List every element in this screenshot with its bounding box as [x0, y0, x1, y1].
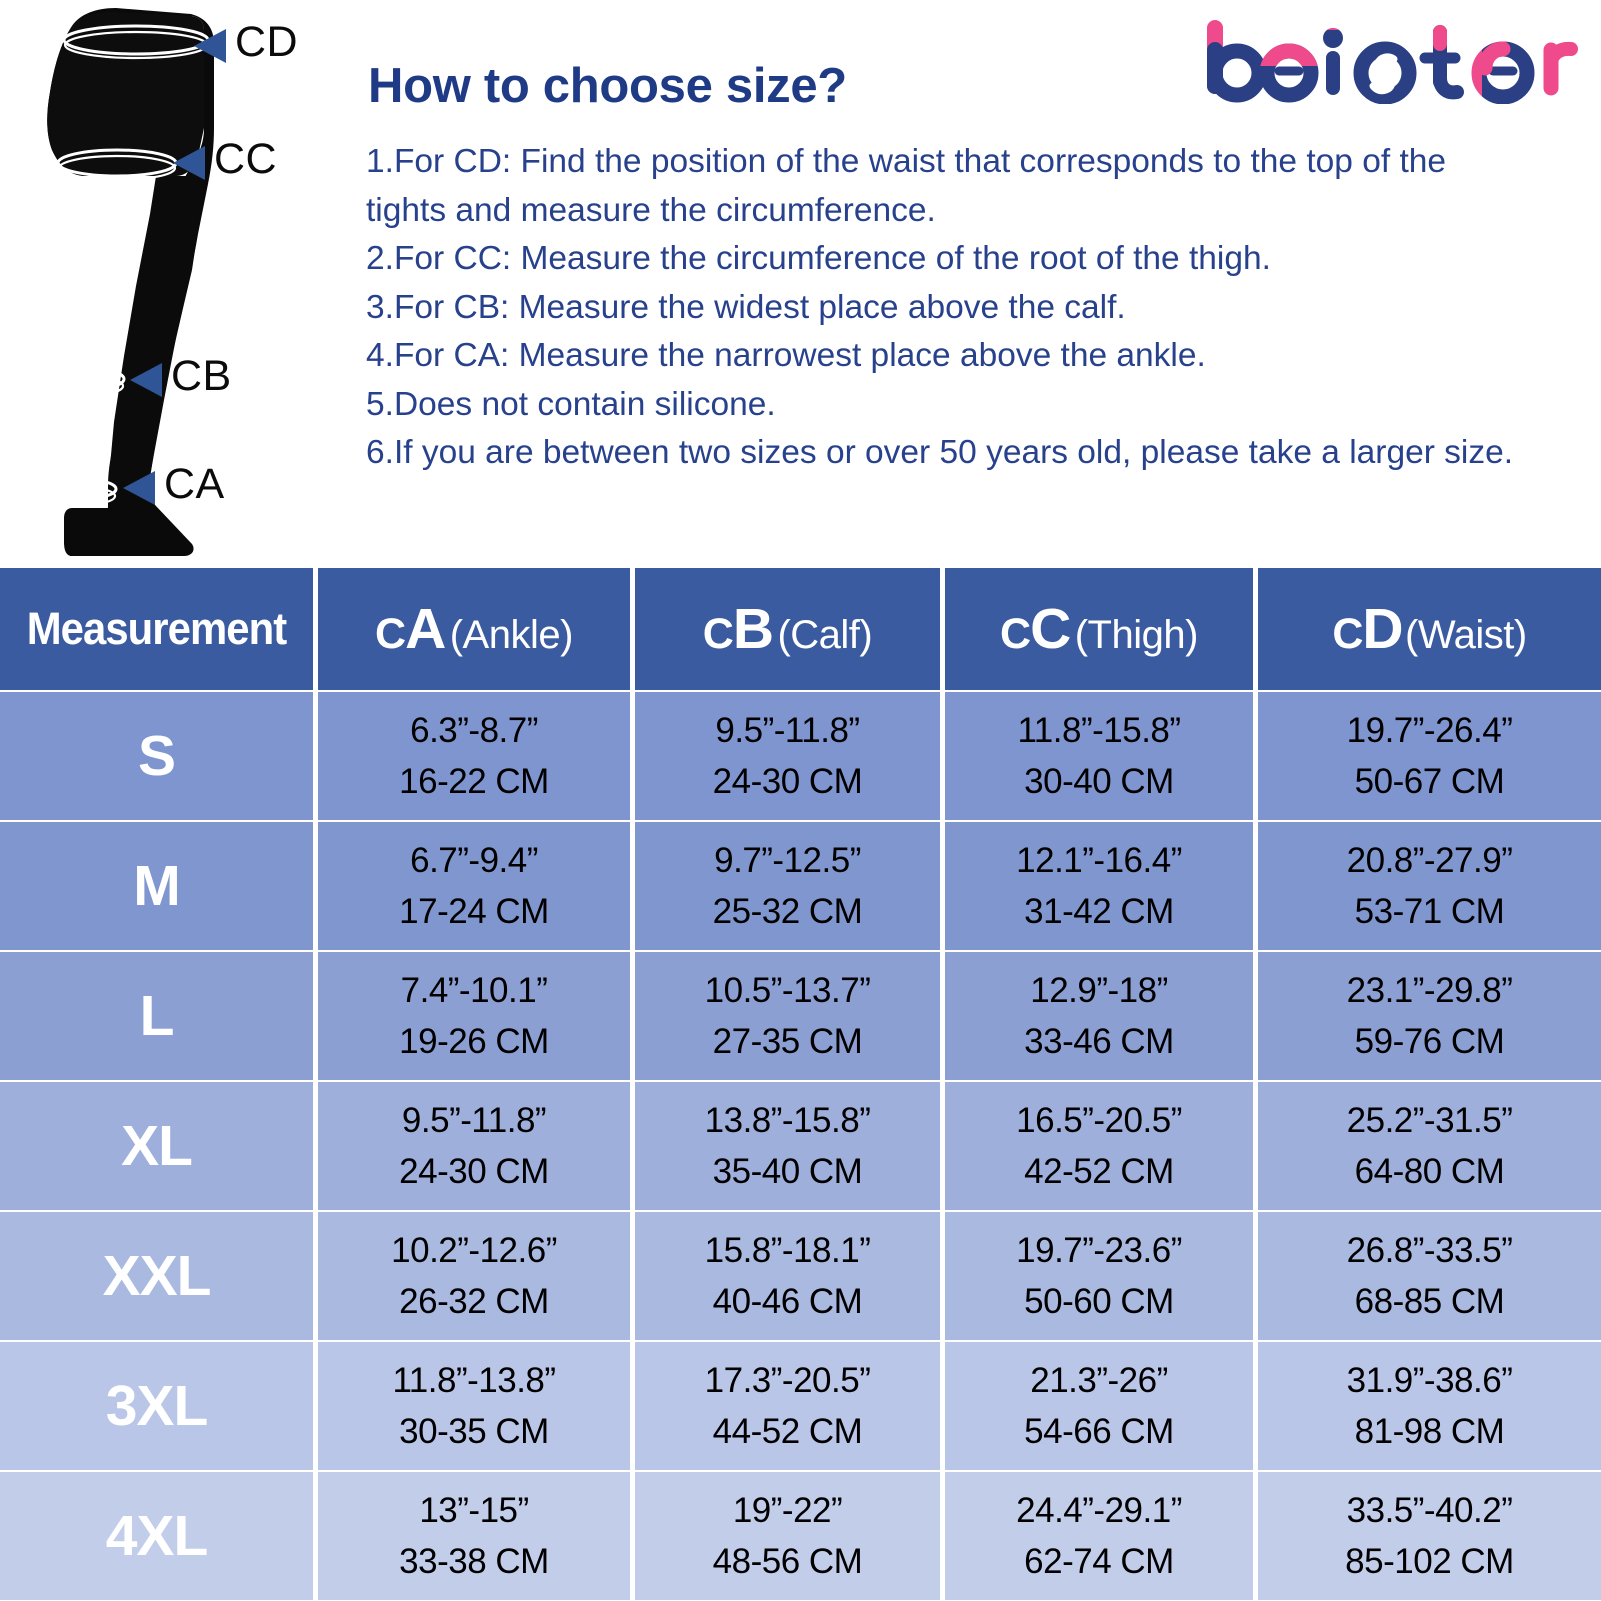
value-cm: 16-22 CM — [318, 756, 630, 807]
ca-value-cell: 9.5”-11.8” 24-30 CM — [318, 1082, 635, 1212]
ca-value-cell: 6.3”-8.7” 16-22 CM — [318, 692, 635, 822]
value-inches: 13”-15” — [318, 1485, 630, 1536]
value-inches: 11.8”-15.8” — [945, 705, 1253, 756]
value-cm: 81-98 CM — [1258, 1406, 1601, 1457]
cc-value-cell: 12.1”-16.4” 31-42 CM — [945, 822, 1258, 952]
cb-value-cell: 19”-22” 48-56 CM — [635, 1472, 945, 1601]
value-cm: 48-56 CM — [635, 1536, 940, 1587]
column-header-cc: CC (Thigh) — [945, 568, 1258, 692]
table-header-row: Measurement CA (Ankle) CB (Calf) CC (Thi… — [0, 568, 1601, 692]
size-value: XL — [121, 1114, 192, 1178]
value-cm: 25-32 CM — [635, 886, 940, 937]
cc-value-cell: 12.9”-18” 33-46 CM — [945, 952, 1258, 1082]
column-header-measurement: Measurement — [0, 568, 318, 692]
value-cm: 50-60 CM — [945, 1276, 1253, 1327]
size-label-cell: L — [0, 952, 318, 1082]
value-cm: 27-35 CM — [635, 1016, 940, 1067]
size-label-cell: XXL — [0, 1212, 318, 1342]
table-row: L 7.4”-10.1” 19-26 CM 10.5”-13.7” 27-35 … — [0, 952, 1601, 1082]
value-inches: 17.3”-20.5” — [635, 1355, 940, 1406]
value-cm: 42-52 CM — [945, 1146, 1253, 1197]
value-cm: 40-46 CM — [635, 1276, 940, 1327]
value-cm: 62-74 CM — [945, 1536, 1253, 1587]
value-inches: 15.8”-18.1” — [635, 1225, 940, 1276]
cb-arrow-icon — [130, 363, 162, 397]
ca-value-cell: 13”-15” 33-38 CM — [318, 1472, 635, 1601]
value-cm: 33-46 CM — [945, 1016, 1253, 1067]
beister-brand-logo — [1197, 16, 1587, 104]
table-head: Measurement CA (Ankle) CB (Calf) CC (Thi… — [0, 568, 1601, 692]
value-cm: 26-32 CM — [318, 1276, 630, 1327]
size-chart-page: CD CC CB CA How to choose size? 1.For CD… — [0, 0, 1601, 1601]
instruction-item-5: 5.Does not contain silicone. — [366, 381, 1516, 430]
ca-marker-label: CA — [164, 460, 225, 509]
cd-value-cell: 31.9”-38.6” 81-98 CM — [1258, 1342, 1601, 1472]
table-row: M 6.7”-9.4” 17-24 CM 9.7”-12.5” 25-32 CM… — [0, 822, 1601, 952]
value-inches: 24.4”-29.1” — [945, 1485, 1253, 1536]
value-inches: 33.5”-40.2” — [1258, 1485, 1601, 1536]
value-inches: 23.1”-29.8” — [1258, 965, 1601, 1016]
instruction-item-4: 4.For CA: Measure the narrowest place ab… — [366, 332, 1516, 381]
cd-value-cell: 26.8”-33.5” 68-85 CM — [1258, 1212, 1601, 1342]
value-cm: 30-35 CM — [318, 1406, 630, 1457]
table-body: S 6.3”-8.7” 16-22 CM 9.5”-11.8” 24-30 CM… — [0, 692, 1601, 1601]
top-info-section: CD CC CB CA How to choose size? 1.For CD… — [0, 0, 1601, 568]
measurement-label: Measurement — [11, 603, 302, 655]
cc-value-cell: 21.3”-26” 54-66 CM — [945, 1342, 1258, 1472]
ca-part-label: (Ankle) — [450, 613, 573, 657]
value-inches: 9.5”-11.8” — [318, 1095, 630, 1146]
value-cm: 64-80 CM — [1258, 1146, 1601, 1197]
size-value: M — [133, 854, 179, 918]
cc-arrow-icon — [173, 146, 205, 180]
column-header-cb: CB (Calf) — [635, 568, 945, 692]
value-cm: 85-102 CM — [1258, 1536, 1601, 1587]
value-inches: 26.8”-33.5” — [1258, 1225, 1601, 1276]
value-cm: 30-40 CM — [945, 756, 1253, 807]
value-inches: 13.8”-15.8” — [635, 1095, 940, 1146]
value-cm: 33-38 CM — [318, 1536, 630, 1587]
brand-logo-svg — [1197, 16, 1587, 104]
value-cm: 50-67 CM — [1258, 756, 1601, 807]
size-label-cell: XL — [0, 1082, 318, 1212]
value-inches: 21.3”-26” — [945, 1355, 1253, 1406]
instruction-item-1: 1.For CD: Find the position of the waist… — [366, 138, 1516, 235]
value-inches: 10.2”-12.6” — [318, 1225, 630, 1276]
value-inches: 9.5”-11.8” — [635, 705, 940, 756]
value-inches: 9.7”-12.5” — [635, 835, 940, 886]
instructions-list: 1.For CD: Find the position of the waist… — [366, 138, 1516, 478]
cb-value-cell: 9.7”-12.5” 25-32 CM — [635, 822, 945, 952]
size-label-cell: M — [0, 822, 318, 952]
cc-marker-label: CC — [214, 135, 277, 184]
size-label-cell: 3XL — [0, 1342, 318, 1472]
value-inches: 7.4”-10.1” — [318, 965, 630, 1016]
cb-code: CB — [703, 597, 773, 661]
size-chart-table: Measurement CA (Ankle) CB (Calf) CC (Thi… — [0, 568, 1601, 1601]
table-row: 3XL 11.8”-13.8” 30-35 CM 17.3”-20.5” 44-… — [0, 1342, 1601, 1472]
value-inches: 16.5”-20.5” — [945, 1095, 1253, 1146]
ca-value-cell: 11.8”-13.8” 30-35 CM — [318, 1342, 635, 1472]
size-value: XXL — [103, 1244, 211, 1308]
cd-part-label: (Waist) — [1405, 613, 1527, 657]
value-inches: 11.8”-13.8” — [318, 1355, 630, 1406]
value-cm: 24-30 CM — [318, 1146, 630, 1197]
value-inches: 19”-22” — [635, 1485, 940, 1536]
leg-measurement-diagram: CD CC CB CA — [16, 8, 346, 560]
value-inches: 6.3”-8.7” — [318, 705, 630, 756]
cb-part-label: (Calf) — [777, 613, 872, 657]
cb-value-cell: 10.5”-13.7” 27-35 CM — [635, 952, 945, 1082]
value-inches: 10.5”-13.7” — [635, 965, 940, 1016]
size-value: 3XL — [106, 1374, 208, 1438]
value-inches: 19.7”-26.4” — [1258, 705, 1601, 756]
ca-code: CA — [375, 597, 445, 661]
value-cm: 31-42 CM — [945, 886, 1253, 937]
value-cm: 19-26 CM — [318, 1016, 630, 1067]
cd-value-cell: 23.1”-29.8” 59-76 CM — [1258, 952, 1601, 1082]
value-cm: 54-66 CM — [945, 1406, 1253, 1457]
value-inches: 19.7”-23.6” — [945, 1225, 1253, 1276]
cb-value-cell: 9.5”-11.8” 24-30 CM — [635, 692, 945, 822]
cc-value-cell: 16.5”-20.5” 42-52 CM — [945, 1082, 1258, 1212]
value-cm: 44-52 CM — [635, 1406, 940, 1457]
ca-arrow-icon — [123, 471, 155, 505]
cd-value-cell: 25.2”-31.5” 64-80 CM — [1258, 1082, 1601, 1212]
size-value: L — [140, 984, 174, 1048]
column-header-ca: CA (Ankle) — [318, 568, 635, 692]
cd-marker-label: CD — [235, 18, 298, 67]
value-inches: 31.9”-38.6” — [1258, 1355, 1601, 1406]
cb-value-cell: 17.3”-20.5” 44-52 CM — [635, 1342, 945, 1472]
cd-value-cell: 33.5”-40.2” 85-102 CM — [1258, 1472, 1601, 1601]
ca-value-cell: 10.2”-12.6” 26-32 CM — [318, 1212, 635, 1342]
size-value: 4XL — [106, 1504, 208, 1568]
table-row: 4XL 13”-15” 33-38 CM 19”-22” 48-56 CM 24… — [0, 1472, 1601, 1601]
cb-value-cell: 13.8”-15.8” 35-40 CM — [635, 1082, 945, 1212]
ca-value-cell: 7.4”-10.1” 19-26 CM — [318, 952, 635, 1082]
page-title: How to choose size? — [368, 58, 847, 114]
table-row: XXL 10.2”-12.6” 26-32 CM 15.8”-18.1” 40-… — [0, 1212, 1601, 1342]
cd-code: CD — [1332, 597, 1402, 661]
instruction-item-6: 6.If you are between two sizes or over 5… — [366, 429, 1516, 478]
ca-value-cell: 6.7”-9.4” 17-24 CM — [318, 822, 635, 952]
value-inches: 6.7”-9.4” — [318, 835, 630, 886]
instruction-item-3: 3.For CB: Measure the widest place above… — [366, 284, 1516, 333]
value-inches: 25.2”-31.5” — [1258, 1095, 1601, 1146]
table-row: S 6.3”-8.7” 16-22 CM 9.5”-11.8” 24-30 CM… — [0, 692, 1601, 822]
size-label-cell: 4XL — [0, 1472, 318, 1601]
value-cm: 68-85 CM — [1258, 1276, 1601, 1327]
cc-value-cell: 19.7”-23.6” 50-60 CM — [945, 1212, 1258, 1342]
cd-value-cell: 19.7”-26.4” 50-67 CM — [1258, 692, 1601, 822]
value-inches: 12.9”-18” — [945, 965, 1253, 1016]
size-label-cell: S — [0, 692, 318, 822]
cd-arrow-icon — [194, 29, 226, 63]
cc-value-cell: 24.4”-29.1” 62-74 CM — [945, 1472, 1258, 1601]
table-row: XL 9.5”-11.8” 24-30 CM 13.8”-15.8” 35-40… — [0, 1082, 1601, 1212]
value-cm: 17-24 CM — [318, 886, 630, 937]
value-cm: 59-76 CM — [1258, 1016, 1601, 1067]
cc-part-label: (Thigh) — [1075, 613, 1198, 657]
value-cm: 53-71 CM — [1258, 886, 1601, 937]
cb-value-cell: 15.8”-18.1” 40-46 CM — [635, 1212, 945, 1342]
value-inches: 20.8”-27.9” — [1258, 835, 1601, 886]
cb-marker-label: CB — [171, 352, 232, 401]
value-cm: 24-30 CM — [635, 756, 940, 807]
cc-value-cell: 11.8”-15.8” 30-40 CM — [945, 692, 1258, 822]
column-header-cd: CD (Waist) — [1258, 568, 1601, 692]
cd-value-cell: 20.8”-27.9” 53-71 CM — [1258, 822, 1601, 952]
value-inches: 12.1”-16.4” — [945, 835, 1253, 886]
size-value: S — [138, 724, 175, 788]
instruction-item-2: 2.For CC: Measure the circumference of t… — [366, 235, 1516, 284]
cc-code: CC — [1000, 597, 1070, 661]
value-cm: 35-40 CM — [635, 1146, 940, 1197]
